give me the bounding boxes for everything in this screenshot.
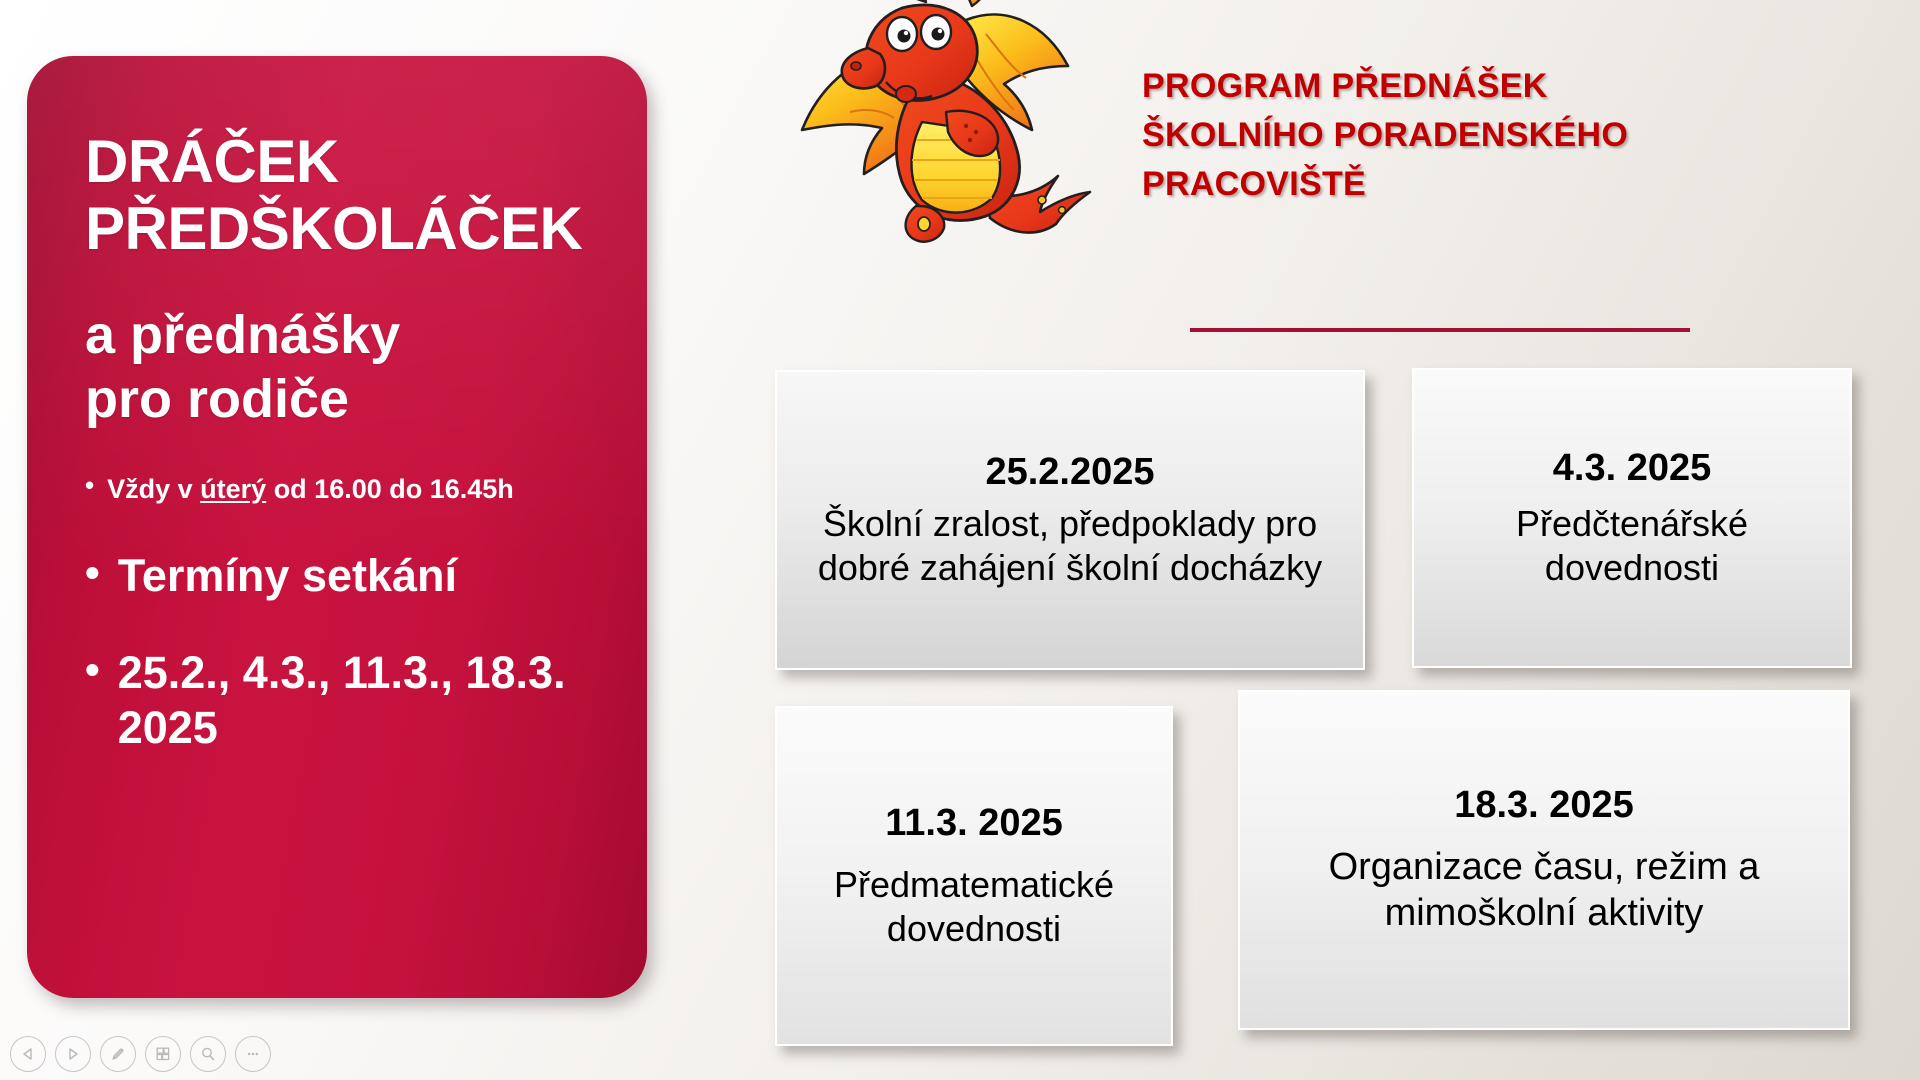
bullet-dot-icon: • [85, 472, 94, 499]
header-title-line-3: PRACOVIŠTĚ [1142, 160, 1842, 209]
bullet-schedule-time: • Vždy v úterý od 16.00 do 16.45h [85, 472, 589, 507]
lecture-card-date: 25.2.2025 [985, 451, 1154, 494]
bullet-meeting-dates-heading: • Termíny setkání [85, 549, 589, 604]
triangle-right-icon [66, 1047, 80, 1061]
header-title-line-1: PROGRAM PŘEDNÁŠEK [1142, 62, 1842, 111]
lecture-card: 18.3. 2025 Organizace času, režim a mimo… [1238, 690, 1850, 1030]
bullet-meeting-dates-list: • 25.2., 4.3., 11.3., 18.3. 2025 [85, 646, 589, 756]
pen-tool-button[interactable] [100, 1036, 136, 1072]
bullet-schedule-time-text: Vždy v úterý od 16.00 do 16.45h [107, 472, 514, 507]
bullet-meeting-dates-list-text: 25.2., 4.3., 11.3., 18.3. 2025 [118, 646, 589, 756]
header-title: PROGRAM PŘEDNÁŠEK ŠKOLNÍHO PORADENSKÉHO … [1142, 62, 1842, 209]
bullet-text-after: od 16.00 do 16.45h [266, 474, 514, 504]
panel-title: DRÁČEK PŘEDŠKOLÁČEK [85, 128, 589, 262]
bullet-text-underlined: úterý [200, 474, 266, 504]
panel-subtitle-line-1: a přednášky [85, 304, 589, 368]
panel-subtitle: a přednášky pro rodiče [85, 304, 589, 431]
lecture-card-date: 18.3. 2025 [1454, 784, 1634, 827]
more-options-button[interactable] [235, 1036, 271, 1072]
lecture-card-date: 4.3. 2025 [1553, 447, 1711, 490]
lecture-card-description: Předmatematické dovednosti [795, 863, 1153, 949]
lecture-card: 11.3. 2025 Předmatematické dovednosti [775, 706, 1173, 1046]
lecture-card: 4.3. 2025 Předčtenářské dovednosti [1412, 368, 1852, 668]
lecture-card-date: 11.3. 2025 [885, 802, 1063, 845]
lecture-card-description: Školní zralost, předpoklady pro dobré za… [795, 502, 1345, 588]
header-divider [1190, 328, 1690, 332]
bullet-dot-icon: • [85, 549, 100, 596]
ellipsis-icon [245, 1046, 261, 1062]
slide-overview-button[interactable] [145, 1036, 181, 1072]
lecture-card: 25.2.2025 Školní zralost, předpoklady pr… [775, 370, 1365, 670]
next-slide-button[interactable] [55, 1036, 91, 1072]
header-title-line-2: ŠKOLNÍHO PORADENSKÉHO [1142, 111, 1842, 160]
bullet-meeting-dates-heading-text: Termíny setkání [118, 549, 457, 604]
triangle-left-icon [21, 1047, 35, 1061]
panel-title-line-2: PŘEDŠKOLÁČEK [85, 195, 589, 262]
panel-bullet-list: • Vždy v úterý od 16.00 do 16.45h • Term… [85, 472, 589, 756]
grid-icon [155, 1046, 171, 1062]
bullet-text-before: Vždy v [107, 474, 200, 504]
slideshow-toolbar [10, 1036, 271, 1072]
panel-title-line-1: DRÁČEK [85, 128, 589, 195]
presentation-slide: DRÁČEK PŘEDŠKOLÁČEK a přednášky pro rodi… [0, 0, 1920, 1080]
dragon-mascot-icon [790, 0, 1130, 262]
zoom-button[interactable] [190, 1036, 226, 1072]
lecture-card-description: Předčtenářské dovednosti [1432, 502, 1832, 588]
pen-icon [110, 1046, 126, 1062]
magnifier-icon [200, 1046, 216, 1062]
panel-subtitle-line-2: pro rodiče [85, 368, 589, 432]
left-red-panel: DRÁČEK PŘEDŠKOLÁČEK a přednášky pro rodi… [27, 56, 647, 998]
bullet-dot-icon: • [85, 646, 100, 693]
lecture-card-description: Organizace času, režim a mimoškolní akti… [1258, 845, 1830, 936]
previous-slide-button[interactable] [10, 1036, 46, 1072]
